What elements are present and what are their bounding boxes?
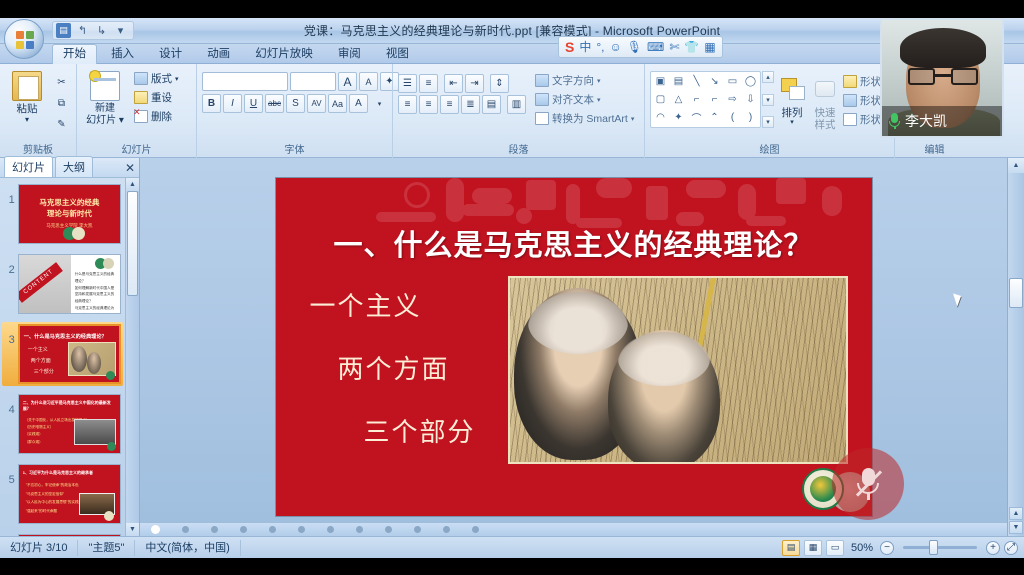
horizontal-slide-strip[interactable]: [140, 522, 1007, 536]
slide-thumbnail-list[interactable]: 1 马克思主义的经典 理论与新时代 马克思主义学院 李大凯: [0, 178, 125, 536]
slide-sorter-view-icon[interactable]: ▦: [804, 540, 822, 556]
shape-elbow-arrow-icon[interactable]: ⌐: [706, 91, 723, 108]
slide-panel-tabs[interactable]: 幻灯片 大纲 ✕: [0, 158, 139, 178]
scroll-thumb[interactable]: [1009, 278, 1023, 308]
align-text-icon: [535, 93, 549, 106]
shape-line-icon[interactable]: ╲: [688, 73, 705, 90]
slide-bullet-3: 三个部分: [364, 412, 528, 449]
paste-dropdown-icon[interactable]: ▾: [25, 115, 29, 124]
thumbnail-image[interactable]: CONTENT 什么是马克思主义的经典理论？ 如何理解新时代中国人是坚持和发展马…: [18, 254, 121, 314]
microphone-muted-icon: [855, 466, 881, 502]
slide-bullet-1: 一个主义: [310, 286, 528, 323]
scroll-up-icon[interactable]: ▲: [1008, 158, 1024, 173]
normal-view-icon[interactable]: ▤: [782, 540, 800, 556]
font-color-dropdown-icon[interactable]: ▾: [370, 94, 389, 113]
slide-thumbnail-2[interactable]: 2 CONTENT 什么是马克思主义的经典理论？ 如何理解新时代中国人是坚持和发…: [2, 252, 123, 316]
new-slide-button[interactable]: 新建 幻灯片 ▾: [82, 67, 128, 126]
columns-icon[interactable]: ▥: [507, 95, 526, 114]
tab-review[interactable]: 审阅: [327, 45, 372, 65]
slide-thumbnail-3[interactable]: 3 一、什么是马克思主义的经典理论？ 一个主义 两个方面 三个部分: [2, 322, 123, 386]
shape-right-brace-icon[interactable]: ): [742, 109, 759, 126]
slide-thumbnail-1[interactable]: 1 马克思主义的经典 理论与新时代 马克思主义学院 李大凯: [2, 182, 123, 246]
thumbnail-image[interactable]: 1、习近平为什么是马克思主义的继承者 "不忘初心，牢记使命"的政治本色 "马克思…: [18, 464, 121, 524]
ime-skin-icon[interactable]: 👕: [684, 41, 699, 53]
shape-roundrect-icon[interactable]: ▢: [652, 91, 669, 108]
reset-button[interactable]: 重设: [131, 89, 182, 106]
text-direction-button[interactable]: 文字方向 ▾: [535, 72, 634, 89]
bullets-icon[interactable]: ☰: [398, 74, 417, 93]
zoom-slider-knob[interactable]: [929, 540, 938, 555]
current-slide[interactable]: 一、什么是马克思主义的经典理论？ 一个主义 两个方面 三个部分: [276, 178, 872, 516]
ribbon-tabs[interactable]: 开始 插入 设计 动画 幻灯片放映 审阅 视图: [0, 44, 1024, 64]
tab-outline[interactable]: 大纲: [55, 156, 93, 177]
zoom-level[interactable]: 50%: [848, 542, 876, 554]
status-right-controls[interactable]: ▤ ▦ ▭ 50% − + ⤢: [782, 540, 1024, 556]
strikethrough-icon[interactable]: abc: [265, 94, 284, 113]
italic-icon[interactable]: I: [223, 94, 242, 113]
next-slide-icon[interactable]: ▼: [1009, 521, 1023, 534]
glasses-icon: [908, 68, 978, 85]
mute-microphone-button[interactable]: [832, 448, 904, 520]
panel-scroll-up-icon[interactable]: ▲: [126, 178, 139, 191]
shape-down-arrow-icon[interactable]: ⇩: [742, 91, 759, 108]
shape-textbox-icon[interactable]: ▣: [652, 73, 669, 90]
cut-icon[interactable]: ✂: [52, 73, 71, 92]
ribbon-group-paragraph: ☰ ≡ ⇤ ⇥ ⇕ ≡ ≡ ≡ ≣ ▤ ▥: [392, 64, 644, 158]
sogou-logo-icon[interactable]: S: [565, 40, 574, 54]
tab-design[interactable]: 设计: [148, 45, 193, 65]
tab-slides[interactable]: 幻灯片: [4, 156, 53, 177]
ime-keyboard-icon[interactable]: ⌨: [647, 41, 664, 53]
shape-cloud-icon[interactable]: ◠: [652, 109, 669, 126]
shape-rectangle-icon[interactable]: ▭: [724, 73, 741, 90]
delete-slide-button[interactable]: 删除: [131, 108, 182, 125]
paste-button[interactable]: 粘贴 ▾: [5, 67, 49, 124]
ribbon-group-clipboard: 粘贴 ▾ ✂ ⧉ ✎ 剪贴板: [0, 64, 76, 158]
increase-indent-icon[interactable]: ⇥: [465, 74, 484, 93]
reset-icon: [134, 91, 148, 104]
thumbnail-number: 6: [4, 534, 18, 536]
arrange-icon: [777, 75, 807, 105]
ime-toolbar[interactable]: S 中 °, ☺ 🎙 ⌨ ✄ 👕 ▦: [558, 36, 723, 58]
thumbnail-image[interactable]: [18, 534, 121, 536]
slide-show-view-icon[interactable]: ▭: [826, 540, 844, 556]
ribbon-group-drawing: ▣ ▤ ╲ ↘ ▭ ◯ ▢ △ ⌐ ⌐ ⇨ ⇩ ◠: [644, 64, 894, 158]
copy-icon[interactable]: ⧉: [52, 94, 71, 113]
tab-animations[interactable]: 动画: [196, 45, 241, 65]
shrink-font-icon[interactable]: A: [359, 72, 378, 91]
shape-picture-icon[interactable]: ▤: [670, 73, 687, 90]
office-button[interactable]: [4, 19, 44, 59]
slide-bullet-2: 两个方面: [338, 349, 528, 386]
participant-label: 李大凯: [882, 106, 1002, 136]
slide-thumbnail-5[interactable]: 5 1、习近平为什么是马克思主义的继承者 "不忘初心，牢记使命"的政治本色 "马…: [2, 462, 123, 526]
shapes-grid[interactable]: ▣ ▤ ╲ ↘ ▭ ◯ ▢ △ ⌐ ⌐ ⇨ ⇩ ◠: [650, 71, 761, 128]
strip-dot-current[interactable]: [151, 525, 160, 534]
close-panel-icon[interactable]: ✕: [125, 161, 135, 175]
thumbnail-number: 5: [4, 464, 18, 486]
shape-star-icon[interactable]: ✦: [670, 109, 687, 126]
strip-dot[interactable]: [240, 526, 247, 533]
status-slide-count: 幻灯片 3/10: [0, 540, 78, 556]
thumbnail-image[interactable]: 一、什么是马克思主义的经典理论？ 一个主义 两个方面 三个部分: [18, 324, 121, 384]
strip-dot[interactable]: [443, 526, 450, 533]
character-spacing-icon[interactable]: AV: [307, 94, 326, 113]
status-bar: 幻灯片 3/10 "主题5" 中文(简体，中国) ▤ ▦ ▭ 50% − + ⤢: [0, 536, 1024, 558]
new-slide-icon: [90, 71, 120, 101]
layout-button[interactable]: 版式 ▾: [131, 70, 182, 87]
shapes-gallery[interactable]: ▣ ▤ ╲ ↘ ▭ ◯ ▢ △ ⌐ ⌐ ⇨ ⇩ ◠: [650, 71, 774, 128]
align-text-button[interactable]: 对齐文本 ▾: [535, 91, 634, 108]
align-center-icon[interactable]: ≡: [419, 95, 438, 114]
line-spacing-icon[interactable]: ⇕: [490, 74, 509, 93]
ime-toolbox-icon[interactable]: ▦: [704, 41, 715, 53]
slide-area-scrollbar[interactable]: ▲ ▲ ▼: [1007, 158, 1024, 536]
text-shadow-icon[interactable]: S: [286, 94, 305, 113]
strip-dot[interactable]: [385, 526, 392, 533]
strip-dot[interactable]: [327, 526, 334, 533]
justify-icon[interactable]: ≣: [461, 95, 480, 114]
thumbnail-number: 4: [4, 394, 18, 416]
numbering-icon[interactable]: ≡: [419, 74, 438, 93]
zoom-slider[interactable]: [903, 546, 977, 549]
zoom-out-icon[interactable]: −: [880, 541, 894, 555]
convert-smartart-button[interactable]: 转换为 SmartArt ▾: [535, 110, 634, 127]
panel-scroll-thumb[interactable]: [127, 191, 138, 296]
strip-dot[interactable]: [211, 526, 218, 533]
participant-name: 李大凯: [905, 111, 947, 131]
letterbox-bottom: [0, 558, 1024, 575]
shape-arrow-icon[interactable]: ↘: [706, 73, 723, 90]
slide-panel: 幻灯片 大纲 ✕ 1 马克思主义的经典 理论与新时代 马克思主义学院 李大: [0, 158, 140, 536]
shapes-scroll-down-icon[interactable]: ▾: [762, 94, 774, 106]
font-size-select[interactable]: [290, 72, 336, 91]
slide-bullets[interactable]: 一个主义 两个方面 三个部分: [298, 286, 528, 475]
grow-font-icon[interactable]: A: [338, 72, 357, 91]
webcam-hair: [900, 28, 986, 68]
ribbon: 粘贴 ▾ ✂ ⧉ ✎ 剪贴板 新建 幻灯片 ▾: [0, 64, 1024, 158]
strip-dot[interactable]: [182, 526, 189, 533]
slide-thumbnail-4[interactable]: 4 二、为什么说习近平是马克思主义中国化的最新发展？ （关于中国化，从人民立场出…: [2, 392, 123, 456]
status-language[interactable]: 中文(简体，中国): [135, 540, 240, 556]
tab-home[interactable]: 开始: [52, 44, 97, 64]
shape-elbow-icon[interactable]: ⌐: [688, 91, 705, 108]
quick-styles-icon: [810, 75, 840, 105]
shapes-gallery-scroll[interactable]: ▴ ▾ ▾: [762, 71, 774, 128]
group-label-paragraph: 段落: [398, 144, 639, 158]
panel-scroll-down-icon[interactable]: ▼: [126, 523, 139, 536]
ime-emoji-icon[interactable]: ☺: [610, 41, 622, 53]
underline-icon[interactable]: U: [244, 94, 263, 113]
bold-icon[interactable]: B: [202, 94, 221, 113]
ime-screenshot-icon[interactable]: ✄: [669, 41, 679, 53]
ime-punctuation-icon[interactable]: °,: [596, 41, 604, 53]
slide-photo[interactable]: [508, 276, 848, 464]
thumbnail-image[interactable]: 马克思主义的经典 理论与新时代 马克思主义学院 李大凯: [18, 184, 121, 244]
paste-icon: [12, 71, 42, 101]
shape-triangle-icon[interactable]: △: [670, 91, 687, 108]
font-color-icon[interactable]: A: [349, 94, 368, 113]
shape-outline-icon: [843, 94, 857, 107]
strip-dot[interactable]: [414, 526, 421, 533]
status-theme[interactable]: "主题5": [78, 540, 135, 556]
decrease-indent-icon[interactable]: ⇤: [444, 74, 463, 93]
shape-right-arrow-icon[interactable]: ⇨: [724, 91, 741, 108]
tab-view[interactable]: 视图: [375, 45, 420, 65]
screen: ▤ ↰ ↳ ▾ 党课：马克思主义的经典理论与新时代.ppt [兼容模式] - M…: [0, 0, 1024, 575]
group-label-editing: 编辑: [900, 144, 969, 158]
microphone-icon: [889, 113, 900, 129]
smartart-icon: [535, 112, 549, 125]
tab-insert[interactable]: 插入: [100, 45, 145, 65]
thumbnail-number: 1: [4, 184, 18, 206]
shape-arc-icon[interactable]: ⌒: [688, 109, 705, 126]
group-label-drawing: 绘图: [650, 144, 889, 158]
fit-to-window-icon[interactable]: ⤢: [1004, 541, 1018, 555]
layout-icon: [134, 72, 148, 85]
distribute-icon[interactable]: ▤: [482, 95, 501, 114]
webcam-overlay[interactable]: 李大凯: [880, 18, 1004, 138]
ribbon-group-slides: 新建 幻灯片 ▾ 版式 ▾ 重设: [76, 64, 196, 158]
quick-styles-button[interactable]: 快速样式: [810, 71, 840, 131]
window-title: 党课：马克思主义的经典理论与新时代.ppt [兼容模式] - Microsoft…: [0, 22, 1024, 39]
shape-effects-icon: [843, 113, 857, 126]
zoom-in-icon[interactable]: +: [986, 541, 1000, 555]
tab-slideshow[interactable]: 幻灯片放映: [244, 45, 324, 65]
group-label-slides: 幻灯片: [82, 144, 191, 158]
slide-panel-scrollbar[interactable]: ▲ ▼: [125, 178, 139, 536]
change-case-icon[interactable]: Aa: [328, 94, 347, 113]
thumbnail-number: 2: [4, 254, 18, 276]
slide-title[interactable]: 一、什么是马克思主义的经典理论？: [276, 222, 872, 264]
shape-left-brace-icon[interactable]: (: [724, 109, 741, 126]
shape-oval-icon[interactable]: ◯: [742, 73, 759, 90]
shape-fill-icon: [843, 75, 857, 88]
previous-slide-icon[interactable]: ▲: [1009, 507, 1023, 520]
thumbnail-number: 3: [4, 324, 18, 346]
text-direction-icon: [535, 74, 549, 87]
strip-dot[interactable]: [472, 526, 479, 533]
align-right-icon[interactable]: ≡: [440, 95, 459, 114]
format-painter-icon[interactable]: ✎: [52, 115, 71, 134]
delete-icon: [134, 110, 148, 123]
strip-dot[interactable]: [269, 526, 276, 533]
ime-mode-chinese[interactable]: 中: [579, 41, 591, 53]
slide-thumbnail-6[interactable]: 6: [2, 532, 123, 536]
strip-dot[interactable]: [356, 526, 363, 533]
arrange-button[interactable]: 排列 ▾: [777, 71, 807, 127]
align-left-icon[interactable]: ≡: [398, 95, 417, 114]
ribbon-group-font: A A ✦ B I U abc S AV Aa A ▾: [196, 64, 392, 158]
shape-chevron-icon[interactable]: ⌃: [706, 109, 723, 126]
engels-portrait: [608, 330, 720, 464]
group-label-font: 字体: [202, 144, 387, 158]
strip-dot[interactable]: [298, 526, 305, 533]
ime-voice-icon[interactable]: 🎙: [627, 41, 642, 53]
title-bar: ▤ ↰ ↳ ▾ 党课：马克思主义的经典理论与新时代.ppt [兼容模式] - M…: [0, 18, 1024, 44]
shapes-more-icon[interactable]: ▾: [762, 116, 774, 128]
shapes-scroll-up-icon[interactable]: ▴: [762, 71, 774, 83]
letterbox-top: [0, 0, 1024, 18]
thumbnail-image[interactable]: 二、为什么说习近平是马克思主义中国化的最新发展？ （关于中国化，从人民立场出发的…: [18, 394, 121, 454]
font-family-select[interactable]: [202, 72, 288, 91]
